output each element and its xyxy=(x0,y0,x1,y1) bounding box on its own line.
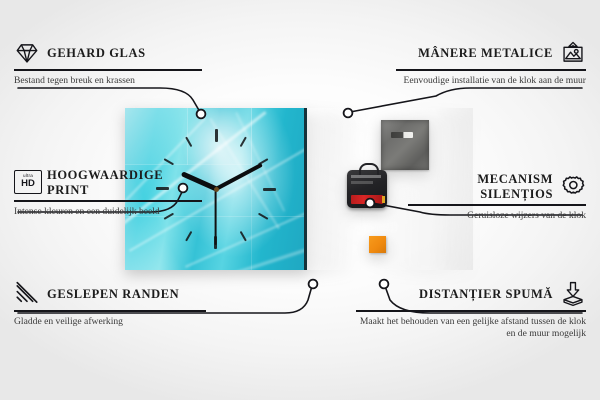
battery xyxy=(351,195,383,204)
feature-header: MÂNERE METALICE xyxy=(396,40,586,66)
ultra-hd-badge-main: HD xyxy=(21,179,35,189)
clock-tick xyxy=(216,188,276,190)
feature-header: GESLEPEN RANDEN xyxy=(14,281,206,307)
feature-title: HOOGWAARDIGE PRINT xyxy=(47,168,202,197)
diagonal-lines-icon xyxy=(14,281,40,307)
feature-title: GEHARD GLAS xyxy=(47,46,146,61)
clock-center-cap xyxy=(214,187,219,192)
diamond-icon xyxy=(14,40,40,66)
feature-description: Maakt het behouden van een gelijke afsta… xyxy=(356,316,586,341)
callout-dot-edges xyxy=(309,280,318,289)
feature-header: DISTANȚIER SPUMĂ xyxy=(356,281,586,307)
feature-divider xyxy=(356,310,586,312)
feature-description: Gladde en veilige afwerking xyxy=(14,316,206,328)
feature-hoogwaardige-print: ultra HD HOOGWAARDIGE PRINT Intense kleu… xyxy=(14,168,202,218)
ultra-hd-icon: ultra HD xyxy=(14,170,40,196)
clock-second-hand xyxy=(215,189,217,245)
feature-title: DISTANȚIER SPUMĂ xyxy=(419,287,553,302)
feature-description: Intense kleuren en een duidelijk beeld xyxy=(14,206,202,218)
feature-divider xyxy=(396,69,586,71)
feature-title: MECANISM SILENȚIOS xyxy=(408,172,553,201)
foam-spacer xyxy=(369,236,386,253)
feature-divider xyxy=(14,310,206,312)
infographic-canvas: GEHARD GLAS Bestand tegen breuk en krass… xyxy=(0,0,600,400)
framed-picture-icon xyxy=(560,40,586,66)
feature-title: GESLEPEN RANDEN xyxy=(47,287,179,302)
feature-description: Geruisloze wijzers van de klok xyxy=(408,210,586,222)
feature-description: Eenvoudige installatie van de klok aan d… xyxy=(396,75,586,87)
mechanism-marking xyxy=(351,175,381,178)
gear-icon xyxy=(560,174,586,200)
feature-divider xyxy=(14,200,202,202)
feature-header: GEHARD GLAS xyxy=(14,40,202,66)
feature-header: MECANISM SILENȚIOS xyxy=(408,172,586,201)
feature-divider xyxy=(14,69,202,71)
feature-divider xyxy=(408,204,586,206)
battery-terminal xyxy=(382,196,385,203)
feature-header: ultra HD HOOGWAARDIGE PRINT xyxy=(14,168,202,197)
mechanism-marking xyxy=(351,181,373,184)
hanger-slot xyxy=(391,132,413,138)
arrow-down-layers-icon xyxy=(560,281,586,307)
clock-mechanism xyxy=(347,170,387,208)
feature-gehard-glas: GEHARD GLAS Bestand tegen breuk en krass… xyxy=(14,40,202,87)
feature-title: MÂNERE METALICE xyxy=(418,46,553,61)
feature-distantier-spuma: DISTANȚIER SPUMĂ Maakt het behouden van … xyxy=(356,281,586,340)
feature-geslepen-randen: GESLEPEN RANDEN Gladde en veilige afwerk… xyxy=(14,281,206,328)
clock-tick xyxy=(215,129,217,189)
feature-description: Bestand tegen breuk en krassen xyxy=(14,75,202,87)
mechanism-hanging-loop xyxy=(359,163,379,175)
feature-manere-metalice: MÂNERE METALICE Eenvoudige installatie v… xyxy=(396,40,586,87)
feature-mecanism-silentios: MECANISM SILENȚIOS Geruisloze wijzers va… xyxy=(408,172,586,222)
metal-hanger-plate xyxy=(381,120,429,170)
